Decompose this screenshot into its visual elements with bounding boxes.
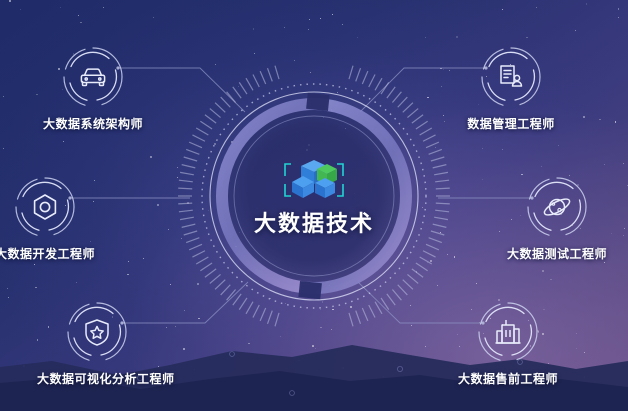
shield-star-icon — [82, 317, 112, 347]
node-system-architect[interactable]: 大数据系统架构师 — [33, 45, 153, 132]
node-label-presales-engineer: 大数据售前工程师 — [448, 370, 568, 387]
node-development-engineer[interactable]: 大数据开发工程师 — [0, 175, 105, 262]
planet-icon — [542, 192, 572, 222]
node-visualization-analysis-engineer[interactable]: 大数据可视化分析工程师 — [37, 300, 157, 387]
document-person-icon — [496, 62, 526, 92]
node-ring-presales-engineer — [476, 300, 540, 364]
node-test-engineer[interactable]: 大数据测试工程师 — [497, 175, 617, 262]
node-label-data-management-engineer: 数据管理工程师 — [451, 115, 571, 132]
node-ring-test-engineer — [525, 175, 589, 239]
node-presales-engineer[interactable]: 大数据售前工程师 — [448, 300, 568, 387]
bar-chart-building-icon — [493, 317, 523, 347]
node-ring-system-architect — [61, 45, 125, 109]
node-label-test-engineer: 大数据测试工程师 — [497, 245, 617, 262]
hexagon-gear-icon — [30, 192, 60, 222]
node-label-visualization-analysis-engineer: 大数据可视化分析工程师 — [37, 370, 157, 387]
node-ring-development-engineer — [13, 175, 77, 239]
cube-3d-icon — [279, 154, 349, 204]
page-title: 大数据技术 — [204, 206, 424, 238]
infographic-canvas: 大数据技术 大数据系统架构师数据管理工程师大数据开发工程师大数据测试工程师大数据… — [0, 0, 628, 411]
car-icon — [78, 62, 108, 92]
node-label-development-engineer: 大数据开发工程师 — [0, 245, 105, 262]
node-data-management-engineer[interactable]: 数据管理工程师 — [451, 45, 571, 132]
node-ring-visualization-analysis-engineer — [65, 300, 129, 364]
node-label-system-architect: 大数据系统架构师 — [33, 115, 153, 132]
node-ring-data-management-engineer — [479, 45, 543, 109]
